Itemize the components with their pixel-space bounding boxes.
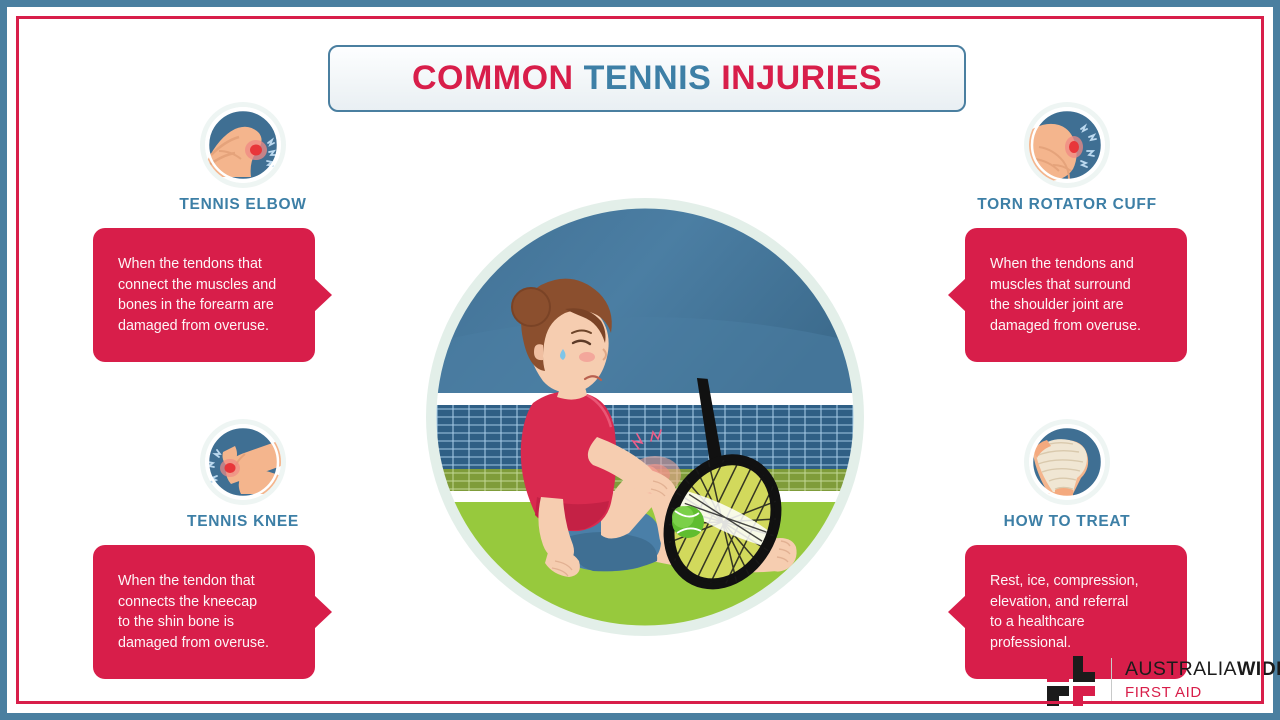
injury-description-tennis-knee: When the tendon that connects the kneeca… (118, 571, 269, 653)
logo-word-wide: WIDE (1237, 658, 1280, 680)
injury-heading-torn-rotator-cuff: TORN ROTATOR CUFF (917, 196, 1217, 214)
left-column: TENNIS ELBOW When the tendons that conne… (93, 107, 393, 679)
injury-callout-tennis-knee: When the tendon that connects the kneeca… (93, 545, 315, 679)
australia-wide-cross-logo-icon (1043, 652, 1099, 708)
injury-heading-tennis-knee: TENNIS KNEE (93, 513, 393, 531)
knee-pain-icon (205, 424, 281, 500)
injury-callout-torn-rotator-cuff: When the tendons and muscles that surrou… (965, 228, 1187, 362)
title-banner: COMMON TENNIS INJURIES (328, 45, 966, 112)
injury-block-tennis-knee: TENNIS KNEE When the tendon that connect… (93, 424, 393, 679)
page-title: COMMON TENNIS INJURIES (412, 59, 882, 98)
logo-word-australia: AUSTRALIA (1125, 658, 1237, 680)
treatment-heading-how-to-treat: HOW TO TREAT (917, 513, 1217, 531)
treatment-description-how-to-treat: Rest, ice, compression, elevation, and r… (990, 571, 1139, 653)
logo-line-australiawide: AUSTRALIAWIDE (1125, 660, 1280, 680)
treatment-block-how-to-treat: HOW TO TREAT Rest, ice, compression, ele… (917, 424, 1217, 679)
injury-description-tennis-elbow: When the tendons that connect the muscle… (118, 254, 276, 336)
logo-wordmark: AUSTRALIAWIDE FIRST AID (1125, 660, 1280, 700)
logo-divider (1111, 658, 1112, 702)
injury-heading-tennis-elbow: TENNIS ELBOW (93, 196, 393, 214)
injured-tennis-player-illustration (415, 197, 875, 637)
elbow-pain-icon (205, 107, 281, 183)
injury-callout-tennis-elbow: When the tendons that connect the muscle… (93, 228, 315, 362)
title-word-injuries: INJURIES (721, 59, 882, 97)
injury-block-tennis-elbow: TENNIS ELBOW When the tendons that conne… (93, 107, 393, 362)
title-word-tennis: TENNIS (584, 59, 712, 97)
injury-description-torn-rotator-cuff: When the tendons and muscles that surrou… (990, 254, 1141, 336)
right-column: TORN ROTATOR CUFF When the tendons and m… (917, 107, 1217, 679)
title-word-common: COMMON (412, 59, 574, 97)
shoulder-pain-icon (1029, 107, 1105, 183)
australia-wide-first-aid-logo: AUSTRALIAWIDE FIRST AID (1043, 652, 1280, 708)
bandaged-knee-icon (1029, 424, 1105, 500)
injury-block-torn-rotator-cuff: TORN ROTATOR CUFF When the tendons and m… (917, 107, 1217, 362)
infographic-page: COMMON TENNIS INJURIES (0, 0, 1280, 720)
logo-line-first-aid: FIRST AID (1125, 685, 1280, 700)
